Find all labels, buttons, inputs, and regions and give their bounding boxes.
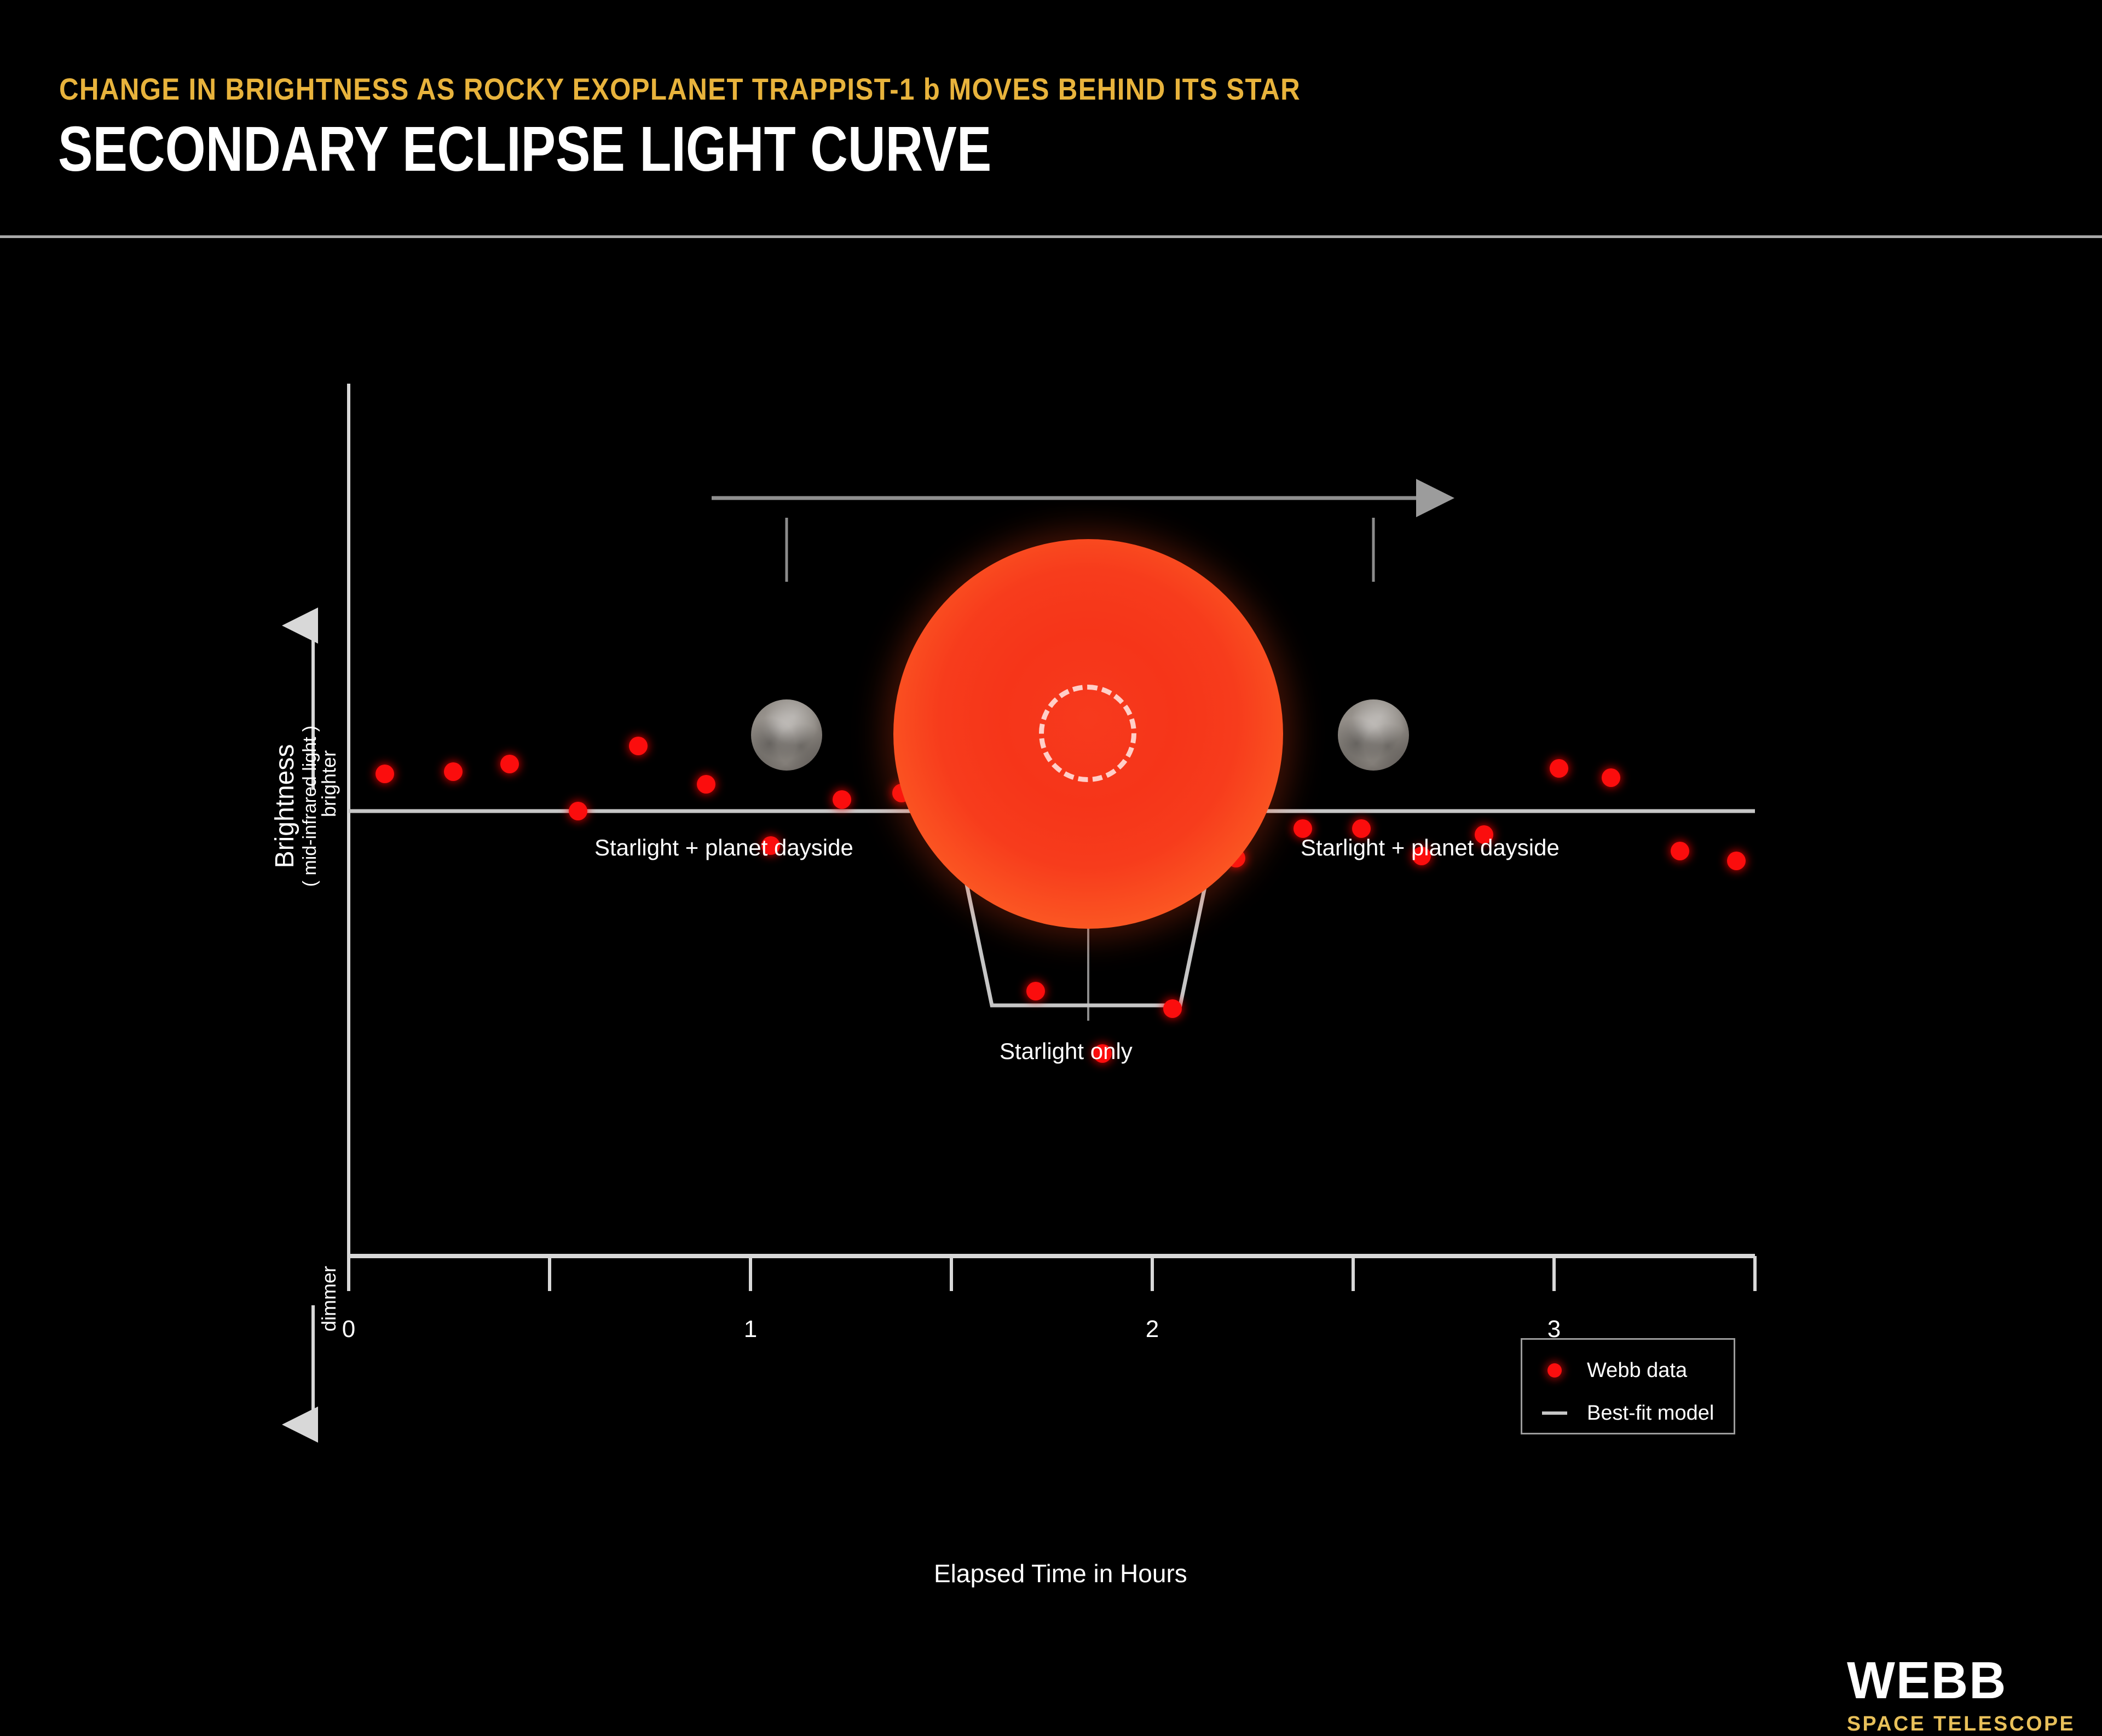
legend-dot-icon (1522, 1363, 1587, 1378)
x-tick-label: 0 (342, 1316, 355, 1342)
data-point (833, 790, 851, 809)
annotation-right: Starlight + planet dayside (1301, 835, 1560, 861)
planet-left-icon (751, 699, 822, 771)
webb-logo-subtitle: SPACE TELESCOPE (1847, 1712, 2075, 1736)
legend-line-icon (1522, 1411, 1587, 1415)
planet-right-icon (1338, 699, 1409, 771)
data-point (1671, 842, 1689, 860)
legend-label: Webb data (1587, 1359, 1687, 1382)
legend-entry-best-fit-model: Best-fit model (1522, 1397, 1734, 1430)
chart-legend: Webb data Best-fit model (1521, 1338, 1735, 1434)
y-axis-label: Brightness ( mid-infrared light ) (272, 691, 316, 921)
x-tick-label: 1 (744, 1316, 757, 1342)
x-axis-label: Elapsed Time in Hours (934, 1559, 1187, 1588)
webb-logo: WEBB SPACE TELESCOPE (1847, 1654, 2077, 1736)
x-axis-tick-labels: 0 1 2 3 (342, 1316, 1561, 1342)
x-axis: 0 1 2 3 (342, 1256, 1755, 1342)
legend-entry-webb-data: Webb data (1522, 1354, 1734, 1387)
x-axis-ticks (349, 1256, 1755, 1291)
hidden-planet-dashed-circle-icon (1039, 685, 1136, 782)
data-point (500, 755, 519, 773)
annotation-middle: Starlight only (1000, 1038, 1133, 1064)
data-point (1026, 982, 1045, 1000)
y-axis-dimmer-label: dimmer (317, 1266, 340, 1332)
data-point (1550, 759, 1568, 778)
data-point (1163, 999, 1182, 1018)
data-point (1727, 852, 1746, 870)
page-title: SECONDARY ECLIPSE LIGHT CURVE (58, 116, 991, 183)
data-point (629, 737, 648, 755)
data-point (444, 762, 463, 781)
data-point (697, 775, 715, 794)
data-point (569, 802, 587, 820)
annotation-left: Starlight + planet dayside (594, 835, 853, 861)
y-axis-brighter-label: brighter (317, 750, 340, 817)
data-point (1602, 768, 1620, 787)
chart-area: 0 1 2 3 (0, 237, 2102, 1545)
header-banner: CHANGE IN BRIGHTNESS AS ROCKY EXOPLANET … (0, 0, 2102, 237)
header-eyebrow: CHANGE IN BRIGHTNESS AS ROCKY EXOPLANET … (59, 71, 1301, 107)
x-tick-label: 2 (1146, 1316, 1159, 1342)
data-point (376, 765, 394, 783)
webb-wordmark: WEBB (1847, 1654, 2071, 1707)
legend-label: Best-fit model (1587, 1402, 1714, 1425)
star-illustration (893, 539, 1283, 929)
y-axis-label-main: Brightness (272, 691, 298, 921)
